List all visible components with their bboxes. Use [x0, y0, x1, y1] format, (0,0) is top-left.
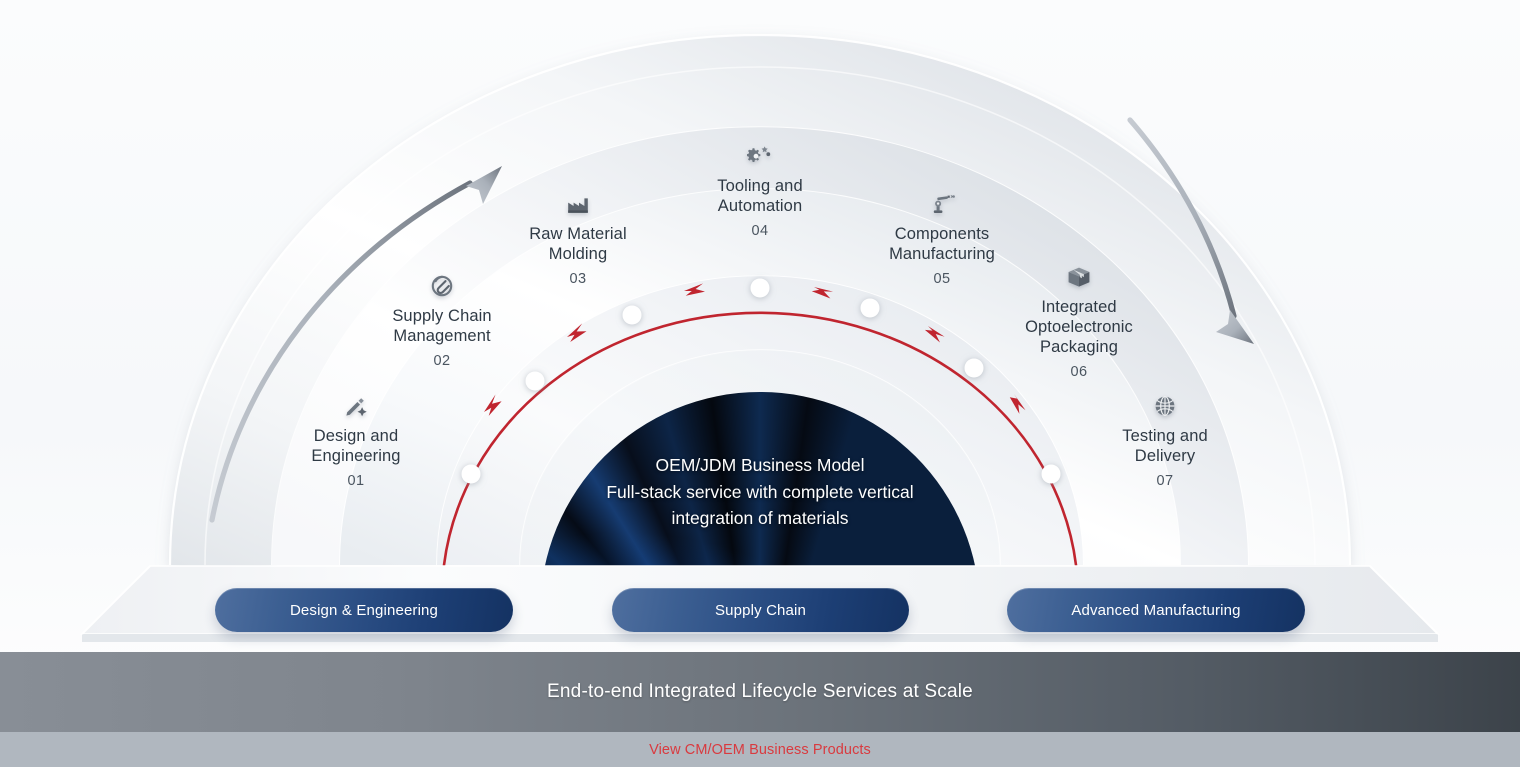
step-label: Supply Chain Management: [347, 306, 537, 346]
step-integrated-optoelectronic-packaging[interactable]: Integrated Optoelectronic Packaging 06: [984, 265, 1174, 382]
step-label: Components Manufacturing: [847, 224, 1037, 264]
center-dome: OEM/JDM Business Model Full-stack servic…: [540, 392, 980, 568]
tagline-bar: End-to-end Integrated Lifecycle Services…: [0, 652, 1520, 732]
footer-bar: View CM/OEM Business Products: [0, 732, 1520, 767]
button-advanced-manufacturing[interactable]: Advanced Manufacturing: [1007, 588, 1305, 632]
step-design-engineering[interactable]: Design and Engineering 01: [261, 394, 451, 491]
center-line-2: Full-stack service with complete vertica…: [550, 479, 970, 506]
gears-icon: [665, 144, 855, 170]
step-number: 01: [261, 473, 451, 491]
globe-icon: [1070, 394, 1260, 420]
step-label: Tooling and Automation: [665, 176, 855, 216]
step-raw-material-molding[interactable]: Raw Material Molding 03: [483, 192, 673, 289]
robot-arm-icon: [847, 192, 1037, 218]
step-label: Design and Engineering: [261, 426, 451, 466]
design-tools-icon: [261, 394, 451, 420]
tagline-text: End-to-end Integrated Lifecycle Services…: [547, 681, 973, 703]
step-testing-delivery[interactable]: Testing and Delivery 07: [1070, 394, 1260, 491]
step-label: Testing and Delivery: [1070, 426, 1260, 466]
center-line-3: integration of materials: [550, 505, 970, 532]
center-heading: OEM/JDM Business Model: [550, 452, 970, 479]
step-number: 06: [984, 364, 1174, 382]
package-box-icon: [984, 265, 1174, 291]
center-text: OEM/JDM Business Model Full-stack servic…: [540, 452, 980, 532]
step-number: 02: [347, 353, 537, 371]
view-products-link[interactable]: View CM/OEM Business Products: [649, 742, 871, 758]
step-number: 03: [483, 271, 673, 289]
step-label: Integrated Optoelectronic Packaging: [984, 297, 1174, 357]
step-tooling-automation[interactable]: Tooling and Automation 04: [665, 144, 855, 241]
diagram-canvas: Design and Engineering 01 Supply Chain M…: [0, 0, 1520, 767]
factory-icon: [483, 192, 673, 218]
step-label: Raw Material Molding: [483, 224, 673, 264]
button-supply-chain[interactable]: Supply Chain: [612, 588, 909, 632]
step-number: 04: [665, 223, 855, 241]
step-number: 07: [1070, 473, 1260, 491]
button-design-engineering[interactable]: Design & Engineering: [215, 588, 513, 632]
